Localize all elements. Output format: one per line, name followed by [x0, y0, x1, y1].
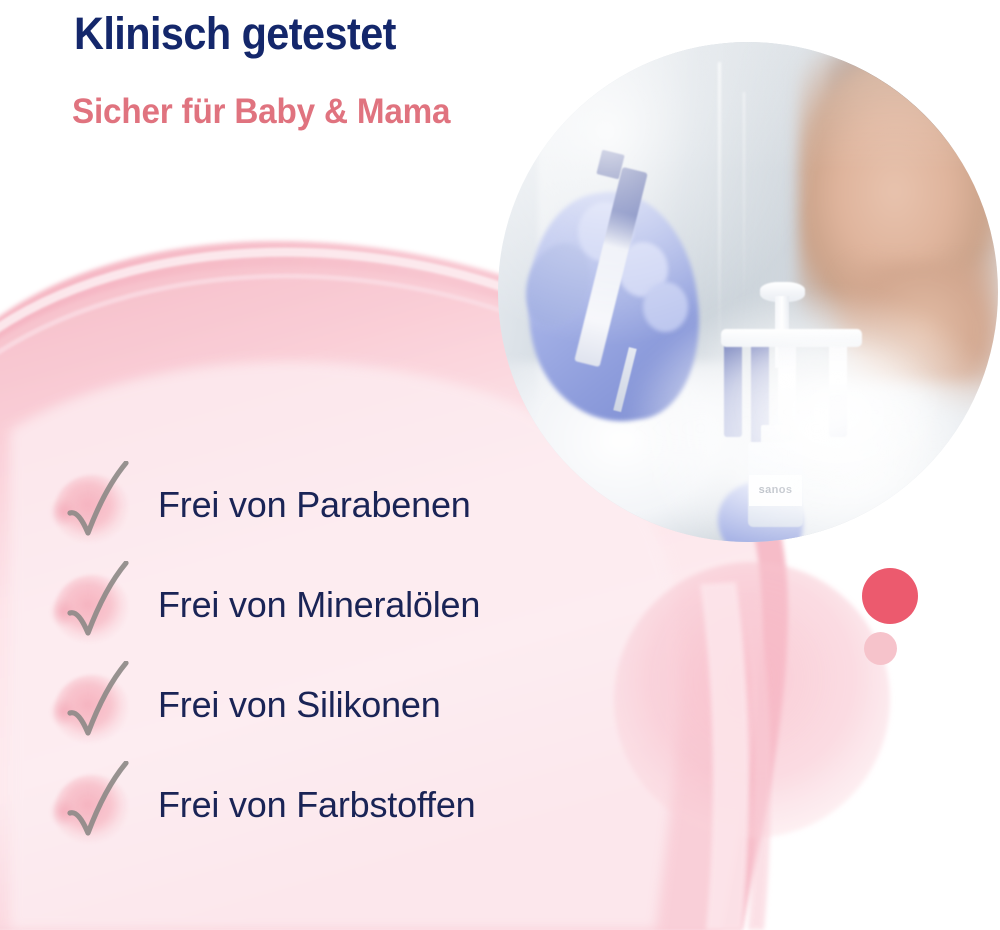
checkmark-stroke — [52, 561, 148, 653]
feature-list: Frei von Parabenen Frei von Mineralölen … — [48, 455, 608, 855]
decor-dot-rose — [862, 568, 918, 624]
checkmark-icon — [48, 561, 148, 653]
feature-label: Frei von Silikonen — [158, 655, 441, 755]
feature-item: Frei von Farbstoffen — [48, 755, 608, 855]
feature-label: Frei von Farbstoffen — [158, 755, 476, 855]
feature-item: Frei von Mineralölen — [48, 555, 608, 655]
checkmark-icon — [48, 661, 148, 753]
promo-banner: sanos Klinisch getestet Sicher für Baby … — [0, 0, 1000, 930]
checkmark-icon — [48, 461, 148, 553]
checkmark-stroke — [52, 661, 148, 753]
blob-light-streak — [700, 582, 749, 930]
checkmark-stroke — [52, 461, 148, 553]
feature-item: Frei von Parabenen — [48, 455, 608, 555]
checkmark-icon — [48, 761, 148, 853]
decor-dot-pale — [864, 632, 897, 665]
headline-title: Klinisch getestet — [74, 8, 396, 60]
blob-secondary-circle — [614, 562, 890, 838]
feature-label: Frei von Mineralölen — [158, 555, 480, 655]
checkmark-stroke — [52, 761, 148, 853]
feature-label: Frei von Parabenen — [158, 455, 471, 555]
feature-item: Frei von Silikonen — [48, 655, 608, 755]
blob-light-streak-2 — [742, 594, 771, 930]
headline-subtitle: Sicher für Baby & Mama — [72, 92, 450, 132]
